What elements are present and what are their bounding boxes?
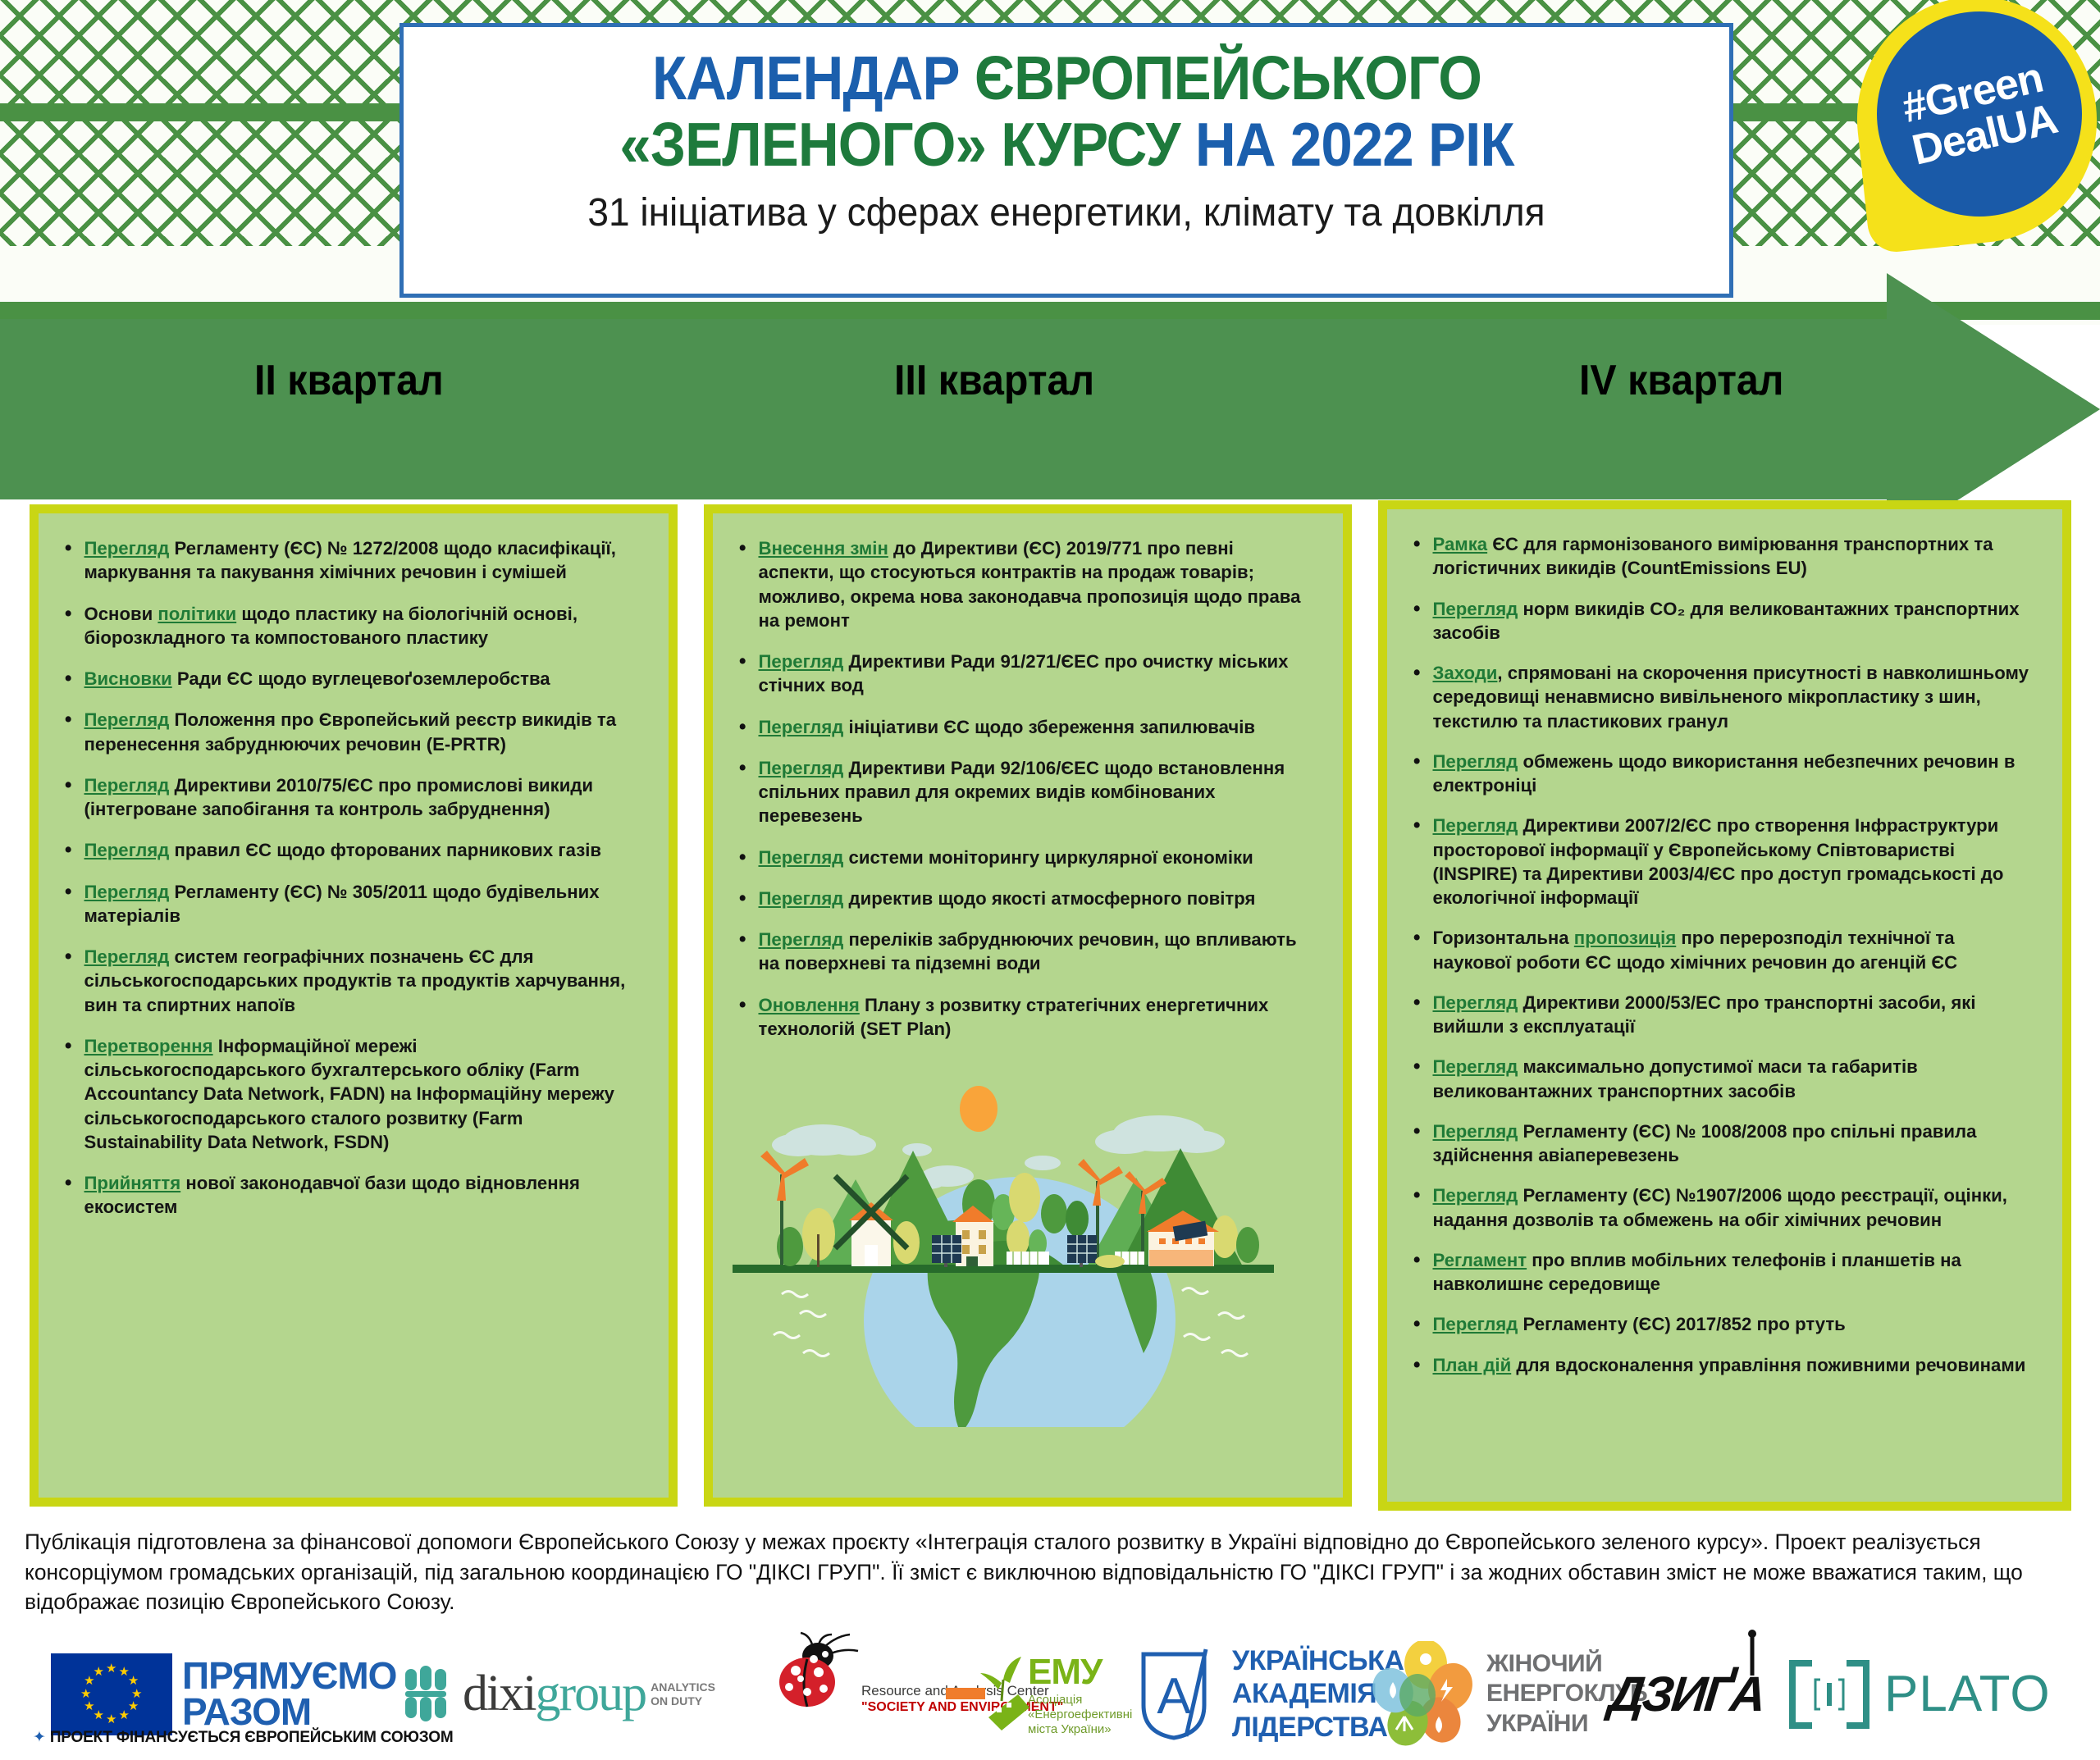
page-subtitle: 31 ініціатива у сферах енергетики, кліма… <box>587 190 1545 235</box>
eu-star-icon: ★ <box>84 1700 94 1712</box>
initiative-item: Перегляд переліків забруднюючих речовин,… <box>731 928 1312 976</box>
eu-note-arrow-icon: ✦ <box>33 1729 46 1746</box>
item-link[interactable]: Внесення змін <box>758 538 888 559</box>
item-link[interactable]: Перегляд <box>1432 1121 1518 1142</box>
logo-dzyga: ДЗИҐА <box>1609 1628 1764 1760</box>
plato-wordmark: PLATO <box>1884 1665 2051 1723</box>
item-link[interactable]: Перегляд <box>1432 751 1518 772</box>
ladybug-icon <box>771 1631 870 1720</box>
initiative-item: Перегляд Регламенту (ЄС) № 305/2011 щодо… <box>57 880 638 928</box>
quarter-header-4: IV квартал <box>1579 356 1784 413</box>
item-link[interactable]: Перегляд <box>84 775 169 796</box>
item-link[interactable]: Регламент <box>1432 1250 1527 1270</box>
initiative-item: Внесення змін до Директиви (ЄС) 2019/771… <box>731 536 1312 632</box>
initiative-item: Перегляд норм викидів CO₂ для великовант… <box>1405 597 2031 645</box>
item-link[interactable]: Перегляд <box>758 651 843 672</box>
plato-brackets-icon <box>1784 1658 1874 1730</box>
item-text: норм викидів CO₂ для великовантажних тра… <box>1432 599 2019 643</box>
badge-circle: #Green DealUA <box>1877 11 2082 217</box>
item-link[interactable]: Перегляд <box>758 758 843 778</box>
item-link[interactable]: Перегляд <box>758 888 843 909</box>
eu-label-line1: ПРЯМУЄМО <box>182 1658 396 1694</box>
item-text: ініціативи ЄС щодо збереження запилювачі… <box>843 717 1255 737</box>
item-link[interactable]: Перетворення <box>84 1036 212 1056</box>
item-link[interactable]: Висновки <box>84 668 171 689</box>
item-prefix: Горизонтальна <box>1432 928 1573 948</box>
quarter-4-card: Рамка ЄС для гармонізованого вимірювання… <box>1378 500 2071 1511</box>
initiative-item: Перегляд Директиви 2007/2/ЄС про створен… <box>1405 814 2031 910</box>
eu-star-icon: ★ <box>128 1675 139 1687</box>
item-text: ЄС для гармонізованого вимірювання транс… <box>1432 534 1993 578</box>
title-word-na-2022: НА 2022 РІК <box>1194 110 1513 179</box>
dixi-wordmark: dixigroup <box>463 1665 646 1723</box>
initiative-item: Перегляд максимально допустимої маси та … <box>1405 1055 2031 1103</box>
item-link[interactable]: Перегляд <box>84 538 169 559</box>
quarter-header-2: II квартал <box>254 356 444 413</box>
emu-subtitle: Асоціація «Енергоефективні міста України… <box>1028 1693 1132 1737</box>
initiative-item: Перегляд Регламенту (ЄС) 2017/852 про рт… <box>1405 1312 2031 1336</box>
item-link[interactable]: Перегляд <box>84 840 169 860</box>
quarter-3-card: Внесення змін до Директиви (ЄС) 2019/771… <box>704 504 1352 1507</box>
dixi-word-part2: group <box>535 1666 646 1721</box>
initiative-item: Основи політики щодо пластику на біологі… <box>57 602 638 650</box>
initiative-item: Перегляд Регламенту (ЄС) № 1008/2008 про… <box>1405 1119 2031 1168</box>
infographic-page: КАЛЕНДАР ЄВРОПЕЙСЬКОГО «ЗЕЛЕНОГО» КУРСУ … <box>0 0 2100 1760</box>
item-link[interactable]: Рамка <box>1432 534 1487 554</box>
emu-sub-line1: Асоціація <box>1028 1693 1132 1708</box>
item-text: , спрямовані на скорочення присутності в… <box>1432 663 2028 732</box>
dixi-word-part1: dixi <box>463 1666 535 1721</box>
item-link[interactable]: Оновлення <box>758 995 859 1015</box>
quarter-2-item-list: Перегляд Регламенту (ЄС) № 1272/2008 щод… <box>39 513 669 1245</box>
page-title-line-2: «ЗЕЛЕНОГО» КУРСУ НА 2022 РІК <box>619 113 1513 176</box>
item-link[interactable]: Перегляд <box>758 717 843 737</box>
quarter-3-item-list: Внесення змін до Директиви (ЄС) 2019/771… <box>713 513 1343 1066</box>
initiative-item: Перегляд Регламенту (ЄС) № 1272/2008 щод… <box>57 536 638 585</box>
dixi-brain-icon <box>402 1664 463 1725</box>
title-word-zelenoho-kursu: «ЗЕЛЕНОГО» КУРСУ <box>619 110 1194 179</box>
item-link[interactable]: Заходи <box>1432 663 1497 683</box>
title-plate: КАЛЕНДАР ЄВРОПЕЙСЬКОГО «ЗЕЛЕНОГО» КУРСУ … <box>399 23 1733 298</box>
eu-star-icon: ★ <box>106 1662 116 1675</box>
initiative-item: Перегляд Положення про Європейський реєс… <box>57 708 638 756</box>
item-text: Ради ЄС щодо вуглецевоґоземлеробства <box>172 668 550 689</box>
eu-together-label: ПРЯМУЄМО РАЗОМ <box>182 1658 396 1730</box>
emu-sub-line2: «Енергоефективні <box>1028 1708 1132 1722</box>
item-link[interactable]: Перегляд <box>1432 1314 1518 1334</box>
item-link[interactable]: політики <box>157 604 236 624</box>
eu-star-icon: ★ <box>94 1666 104 1678</box>
title-word-kalendar: КАЛЕНДАР <box>652 43 975 112</box>
item-link[interactable]: пропозиція <box>1574 928 1676 948</box>
item-prefix: Основи <box>84 604 157 624</box>
item-text: системи моніторингу циркулярної економік… <box>843 847 1253 868</box>
initiative-item: Перегляд Директиви Ради 91/271/ЄЕС про о… <box>731 650 1312 698</box>
item-link[interactable]: Перегляд <box>84 882 169 902</box>
eu-note-text: ПРОЕКТ ФІНАНСУЄТЬСЯ ЄВРОПЕЙСЬКИМ СОЮЗОМ <box>50 1729 454 1746</box>
emu-wordmark: ЕМУ <box>1028 1652 1132 1693</box>
initiative-item: План дій для вдосконалення управління по… <box>1405 1353 2031 1377</box>
logo-womens-energy-club: ЖІНОЧИЙ ЕНЕРГОКЛУБ УКРАЇНИ <box>1372 1628 1647 1760</box>
item-link[interactable]: Перегляд <box>84 946 169 967</box>
eu-funding-note: ✦ ПРОЕКТ ФІНАНСУЄТЬСЯ ЄВРОПЕЙСЬКИМ СОЮЗО… <box>33 1728 453 1747</box>
eco-illustration-svg <box>733 1074 1323 1427</box>
item-link[interactable]: Перегляд <box>1432 1185 1518 1206</box>
ual-shield-icon: А <box>1130 1646 1221 1743</box>
item-link[interactable]: Перегляд <box>758 847 843 868</box>
item-text: Директиви 2007/2/ЄС про створення Інфрас… <box>1432 815 2003 908</box>
ornament-stripe-bottom <box>0 302 2100 320</box>
eu-label-line2: РАЗОМ <box>182 1694 396 1730</box>
eu-flag-icon: ★★★★★★★★★★★★ <box>51 1653 172 1735</box>
item-text: правил ЄС щодо фторованих парникових газ… <box>169 840 601 860</box>
eu-star-icon: ★ <box>106 1713 116 1726</box>
item-link[interactable]: Перегляд <box>1432 1056 1518 1077</box>
quarter-2-card: Перегляд Регламенту (ЄС) № 1272/2008 щод… <box>30 504 678 1507</box>
initiative-item: Перегляд Директиви 2000/53/ЕС про трансп… <box>1405 991 2031 1039</box>
initiative-item: Оновлення Плану з розвитку стратегічних … <box>731 993 1312 1042</box>
initiative-item: Прийняття нової законодавчої бази щодо в… <box>57 1171 638 1220</box>
dzyga-spinner-icon <box>1736 1630 1769 1679</box>
green-deal-ua-badge: #Green DealUA <box>1857 0 2097 243</box>
badge-label: #Green DealUA <box>1898 55 2061 173</box>
initiative-item: Перегляд обмежень щодо використання небе… <box>1405 750 2031 798</box>
dixi-tagline: ANALYTICS ON DUTY <box>651 1680 715 1707</box>
initiative-item: Перегляд систем географічних позначень Є… <box>57 945 638 1017</box>
item-link[interactable]: Перегляд <box>1432 599 1518 619</box>
emu-leaf-icon <box>931 1650 1031 1739</box>
initiative-item: Перегляд директив щодо якості атмосферно… <box>731 887 1312 910</box>
eu-star-icon: ★ <box>119 1709 130 1721</box>
wec-petals-icon <box>1372 1641 1478 1748</box>
item-link[interactable]: Прийняття <box>84 1173 180 1193</box>
dixi-tag-line1: ANALYTICS <box>651 1680 715 1694</box>
item-text: Регламенту (ЄС) 2017/852 про ртуть <box>1518 1314 1845 1334</box>
initiative-item: Перегляд Регламенту (ЄС) №1907/2006 щодо… <box>1405 1183 2031 1232</box>
item-link[interactable]: Перегляд <box>84 709 169 730</box>
initiative-item: Горизонтальна пропозиція про перерозподі… <box>1405 926 2031 974</box>
title-word-evropeyskoho: ЄВРОПЕЙСЬКОГО <box>974 43 1481 112</box>
funding-disclaimer: Публікація підготовлена за фінансової до… <box>25 1527 2066 1617</box>
dixi-tag-line2: ON DUTY <box>651 1694 715 1708</box>
item-text: для вдосконалення управління поживними р… <box>1511 1355 2025 1375</box>
quarter-4-item-list: Рамка ЄС для гармонізованого вимірювання… <box>1387 509 2062 1402</box>
logo-emu-association: ЕМУ Асоціація «Енергоефективні міста Укр… <box>931 1628 1132 1760</box>
item-link[interactable]: Перегляд <box>758 929 843 950</box>
logo-plato: PLATO <box>1784 1628 2051 1760</box>
initiative-item: Перегляд Директиви Ради 92/106/ЄЕС щодо … <box>731 756 1312 828</box>
ual-letter-a: А <box>1157 1668 1191 1725</box>
eco-earth-illustration <box>733 1074 1323 1427</box>
initiative-item: Рамка ЄС для гармонізованого вимірювання… <box>1405 532 2031 581</box>
item-link[interactable]: Перегляд <box>1432 815 1518 836</box>
initiative-item: Висновки Ради ЄС щодо вуглецевоґоземлеро… <box>57 667 638 691</box>
initiative-item: Заходи, спрямовані на скорочення присутн… <box>1405 661 2031 733</box>
initiative-item: Перегляд правил ЄС щодо фторованих парни… <box>57 838 638 862</box>
logo-dixigroup: dixigroup ANALYTICS ON DUTY <box>402 1628 715 1760</box>
logo-ukrainian-leadership-academy: А УКРАЇНСЬКА АКАДЕМІЯ ЛІДЕРСТВА <box>1130 1628 1404 1760</box>
eu-star-icon: ★ <box>131 1688 142 1700</box>
quarter-header-3: III квартал <box>894 356 1094 413</box>
item-link[interactable]: Перегляд <box>1432 992 1518 1013</box>
partner-logo-strip: ★★★★★★★★★★★★ ПРЯМУЄМО РАЗОМ ✦ ПРОЕКТ ФІН… <box>0 1628 2100 1760</box>
eu-star-icon: ★ <box>80 1688 91 1700</box>
emu-sub-line3: міста України» <box>1028 1722 1132 1737</box>
initiative-item: Регламент про вплив мобільних телефонів … <box>1405 1248 2031 1297</box>
initiative-item: Перетворення Інформаційної мережі сільсь… <box>57 1034 638 1154</box>
item-text: Регламенту (ЄС) №1907/2006 щодо реєстрац… <box>1432 1185 2006 1229</box>
page-title-line-1: КАЛЕНДАР ЄВРОПЕЙСЬКОГО <box>652 47 1481 110</box>
initiative-item: Перегляд системи моніторингу циркулярної… <box>731 846 1312 869</box>
item-text: обмежень щодо використання небезпечних р… <box>1432 751 2015 796</box>
item-link[interactable]: План дій <box>1432 1355 1511 1375</box>
initiative-item: Перегляд ініціативи ЄС щодо збереження з… <box>731 715 1312 739</box>
item-text: директив щодо якості атмосферного повітр… <box>843 888 1255 909</box>
initiative-item: Перегляд Директиви 2010/75/ЄС про промис… <box>57 773 638 822</box>
